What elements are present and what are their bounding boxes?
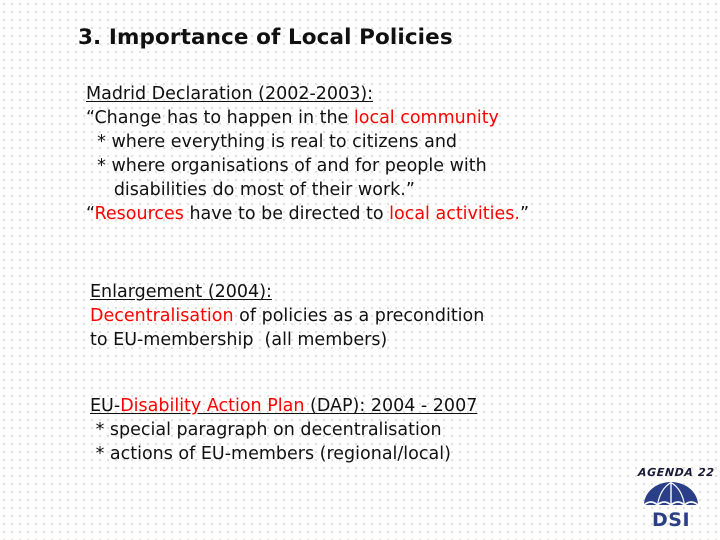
dap-heading-accent: Disability Action Plan (120, 396, 304, 416)
agenda22-dsi-logo: AGENDA 22 DSI (632, 466, 712, 532)
slide-canvas: 3. Importance of Local Policies Madrid D… (0, 0, 720, 540)
umbrella-dome-icon: DSI (640, 481, 702, 531)
madrid-line-5-open-quote: “ (86, 204, 95, 224)
dap-line-1: * special paragraph on decentralisation (90, 418, 477, 442)
enlargement-line-1: Decentralisation of policies as a precon… (90, 304, 484, 328)
logo-org-text: DSI (652, 509, 690, 531)
dap-block: EU-Disability Action Plan (DAP): 2004 - … (90, 394, 477, 466)
enlargement-heading: Enlargement (2004): (90, 280, 484, 304)
madrid-line-4: disabilities do most of their work.” (86, 178, 529, 202)
madrid-line-5: “Resources have to be directed to local … (86, 202, 529, 226)
enlargement-block: Enlargement (2004): Decentralisation of … (90, 280, 484, 352)
madrid-line-3: * where organisations of and for people … (86, 154, 529, 178)
madrid-line-1-accent: local community (354, 108, 499, 128)
dap-heading-prefix: EU- (90, 396, 120, 416)
madrid-line-5-middle: have to be directed to (184, 204, 389, 224)
madrid-declaration-block: Madrid Declaration (2002-2003): “Change … (86, 82, 529, 226)
enlargement-line-1-text: of policies as a precondition (234, 306, 485, 326)
enlargement-line-2: to EU-membership (all members) (90, 328, 484, 352)
madrid-line-2: * where everything is real to citizens a… (86, 130, 529, 154)
dap-line-2: * actions of EU-members (regional/local) (90, 442, 477, 466)
madrid-line-5-accent-2: local activities (389, 204, 514, 224)
enlargement-line-1-accent: Decentralisation (90, 306, 234, 326)
madrid-line-5-close-quote: ” (520, 204, 529, 224)
madrid-line-1: “Change has to happen in the local commu… (86, 106, 529, 130)
madrid-line-5-accent-1: Resources (95, 204, 184, 224)
madrid-line-1-text: “Change has to happen in the (86, 108, 354, 128)
logo-agenda-text: AGENDA 22 (638, 466, 715, 479)
dap-heading-suffix: (DAP): 2004 - 2007 (304, 396, 477, 416)
page-title: 3. Importance of Local Policies (78, 25, 453, 50)
madrid-heading: Madrid Declaration (2002-2003): (86, 82, 529, 106)
dap-heading: EU-Disability Action Plan (DAP): 2004 - … (90, 394, 477, 418)
